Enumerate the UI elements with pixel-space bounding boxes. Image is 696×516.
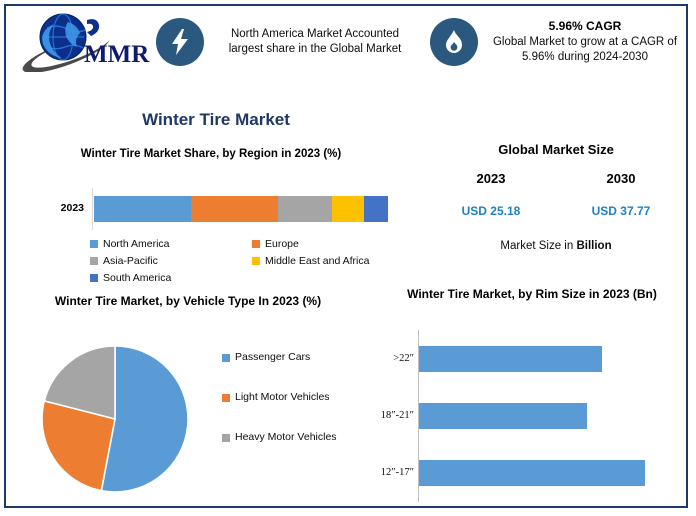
legend-item-3: Middle East and Africa <box>252 253 418 269</box>
chart-region-share-axis <box>92 188 93 230</box>
legend-item-label: Europe <box>265 238 299 250</box>
rim-size-row-2: 12″-17″ <box>378 444 686 501</box>
legend-item-label: North America <box>103 238 170 250</box>
legend-item-2: Asia-Pacific <box>90 253 252 269</box>
region-segment-0 <box>94 196 191 222</box>
footnote-unit: Billion <box>576 240 611 252</box>
global-market-size-footnote: Market Size in Billion <box>426 240 686 252</box>
page-title: Winter Tire Market <box>6 110 426 130</box>
region-segment-4 <box>364 196 388 222</box>
global-market-size-years: 2023 2030 <box>426 171 686 186</box>
market-size-year-2023: 2023 <box>426 171 556 186</box>
infographic-frame: MMR North America Market Accounted large… <box>4 4 688 508</box>
rim-size-category-label: 18″-21″ <box>378 410 414 421</box>
footnote-prefix: Market Size in <box>500 240 576 252</box>
legend-item-1: Europe <box>252 236 418 252</box>
rim-size-category-label: >22″ <box>378 353 414 364</box>
legend-item-label: Middle East and Africa <box>265 255 369 267</box>
chart-region-share: Winter Tire Market Share, by Region in 2… <box>14 146 418 288</box>
region-segment-1 <box>191 196 278 222</box>
chart-vehicle-type: Winter Tire Market, by Vehicle Type In 2… <box>14 292 378 510</box>
lightning-bolt-icon <box>156 18 204 66</box>
legend-item-0: North America <box>90 236 252 252</box>
rim-size-row-0: >22″ <box>378 330 686 387</box>
chart-vehicle-type-title: Winter Tire Market, by Vehicle Type In 2… <box>38 292 338 310</box>
region-segment-2 <box>278 196 332 222</box>
rim-size-category-label: 12″-17″ <box>378 467 414 478</box>
pie-chart-graphic <box>40 344 190 494</box>
rim-size-bar <box>419 346 602 372</box>
chart-region-share-title: Winter Tire Market Share, by Region in 2… <box>36 146 386 163</box>
market-size-value-2023: USD 25.18 <box>426 204 556 218</box>
legend-swatch-icon <box>252 240 260 248</box>
kpi-north-america: North America Market Accounted largest s… <box>156 18 416 66</box>
pie-legend-item-2: Heavy Motor Vehicles <box>222 430 372 444</box>
legend-swatch-icon <box>90 257 98 265</box>
chart-rim-size-plot: >22″18″-21″12″-17″ <box>378 330 686 502</box>
legend-item-label: Asia-Pacific <box>103 255 158 267</box>
rim-size-bar <box>419 460 645 486</box>
kpi-cagr-heading: 5.96% CAGR <box>488 19 682 35</box>
kpi-cagr-text: 5.96% CAGR Global Market to grow at a CA… <box>488 19 682 65</box>
flame-icon <box>430 18 478 66</box>
chart-region-share-stack <box>94 196 388 222</box>
legend-swatch-icon <box>90 240 98 248</box>
globe-swoosh-logo: MMR <box>18 10 150 72</box>
rim-size-row-1: 18″-21″ <box>378 387 686 444</box>
legend-swatch-icon <box>252 257 260 265</box>
pie-legend-item-1: Light Motor Vehicles <box>222 390 372 404</box>
market-size-value-2030: USD 37.77 <box>556 204 686 218</box>
legend-swatch-icon <box>222 354 230 362</box>
chart-vehicle-type-legend: Passenger CarsLight Motor VehiclesHeavy … <box>222 350 372 471</box>
header: MMR North America Market Accounted large… <box>6 6 686 92</box>
kpi-cagr: 5.96% CAGR Global Market to grow at a CA… <box>430 18 682 66</box>
kpi-north-america-text: North America Market Accounted largest s… <box>214 27 416 57</box>
pie-legend-label: Heavy Motor Vehicles <box>235 430 337 444</box>
svg-text:MMR: MMR <box>84 41 150 68</box>
chart-rim-size: Winter Tire Market, by Rim Size in 2023 … <box>378 286 686 510</box>
legend-item-4: South America <box>90 270 252 286</box>
mmr-logo: MMR <box>18 10 150 72</box>
legend-swatch-icon <box>222 394 230 402</box>
region-segment-3 <box>332 196 364 222</box>
chart-vehicle-type-plot <box>40 344 190 494</box>
pie-legend-label: Light Motor Vehicles <box>235 390 330 404</box>
pie-legend-item-0: Passenger Cars <box>222 350 372 364</box>
pie-legend-label: Passenger Cars <box>235 350 310 364</box>
legend-item-label: South America <box>103 272 171 284</box>
global-market-size-values: USD 25.18 USD 37.77 <box>426 204 686 218</box>
rim-size-bar <box>419 403 587 429</box>
market-size-year-2030: 2030 <box>556 171 686 186</box>
global-market-size-panel: Global Market Size 2023 2030 USD 25.18 U… <box>426 142 686 272</box>
chart-rim-size-title: Winter Tire Market, by Rim Size in 2023 … <box>378 286 686 303</box>
legend-swatch-icon <box>90 274 98 282</box>
chart-region-share-plot: 2023 <box>14 188 418 232</box>
kpi-cagr-body: Global Market to grow at a CAGR of 5.96%… <box>493 36 677 63</box>
chart-region-share-legend: North AmericaEuropeAsia-PacificMiddle Ea… <box>90 236 418 287</box>
global-market-size-title: Global Market Size <box>426 142 686 157</box>
chart-region-share-category-label: 2023 <box>36 202 84 214</box>
legend-swatch-icon <box>222 434 230 442</box>
